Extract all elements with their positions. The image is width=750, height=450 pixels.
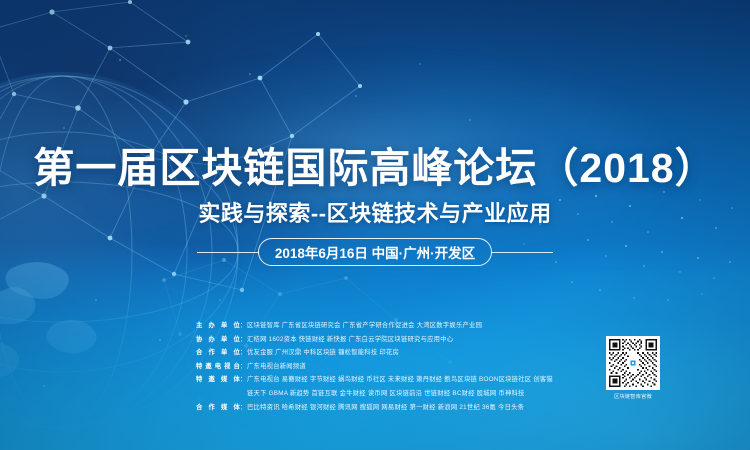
credit-label: 特邀媒体 xyxy=(196,373,240,387)
credit-colon: ： xyxy=(240,401,247,415)
conference-poster: 第一届区块链国际高峰论坛（2018） 实践与探索--区块链技术与产业应用 201… xyxy=(0,0,750,450)
rule-right xyxy=(491,252,553,253)
credit-row: 协办单位 ： 汇桔网 1602资本 快链财经 新快报 广东白云学院区块链研究与应… xyxy=(196,333,616,347)
qr-caption: 区块链智库官微 xyxy=(602,393,664,400)
credit-row: 特邀电视台 ： 广东电视台新闻频道 xyxy=(196,360,616,374)
credit-value: 区块链智库 广东省区块链研究会 广东省产学研合作促进会 大湾区数字娱乐产业园 xyxy=(247,319,616,333)
credit-value: 优友金服 广州汉鼎 中科区块链 镰松智能科技 印花房 xyxy=(247,346,616,360)
credit-row: 合作单位 ： 优友金服 广州汉鼎 中科区块链 镰松智能科技 印花房 xyxy=(196,346,616,360)
credit-row: 特邀媒体 ： 广东电视台 易簪财经 字节财经 蜗鸟财经 币社区 未来财经 箫丹财… xyxy=(196,373,616,387)
credit-value: 巴比特资讯 哈希财经 银河财经 腾讯网 搜狐网 网易财经 第一财经 新浪网 21… xyxy=(247,401,616,415)
credit-colon: ： xyxy=(240,360,247,374)
date-location-text: 2018年6月16日 中国·广州·开发区 xyxy=(258,238,492,266)
qr-code-image[interactable] xyxy=(606,336,660,390)
credit-label: 协办单位 xyxy=(196,333,240,347)
credit-value: 广东电视台新闻频道 xyxy=(247,360,616,374)
credit-colon: ： xyxy=(240,319,247,333)
qr-code-block: 区块链智库官微 xyxy=(602,336,664,400)
rule-left xyxy=(197,252,259,253)
credit-value: 汇桔网 1602资本 快链财经 新快报 广东白云学院区块链研究与应用中心 xyxy=(247,333,616,347)
credit-row: 主办单位 ： 区块链智库 广东省区块链研究会 广东省产学研合作促进会 大湾区数字… xyxy=(196,319,616,333)
credit-colon: ： xyxy=(240,373,247,387)
page-title: 第一届区块链国际高峰论坛（2018） xyxy=(0,134,750,194)
credit-colon: ： xyxy=(240,333,247,347)
page-subtitle: 实践与探索--区块链技术与产业应用 xyxy=(0,196,750,228)
credits-block: 主办单位 ： 区块链智库 广东省区块链研究会 广东省产学研合作促进会 大湾区数字… xyxy=(196,319,616,414)
credit-label: 特邀电视台 xyxy=(196,360,240,374)
credit-label: 主办单位 xyxy=(196,319,240,333)
credit-row: 合作媒体 ： 巴比特资讯 哈希财经 银河财经 腾讯网 搜狐网 网易财经 第一财经… xyxy=(196,401,616,415)
date-location-bar: 2018年6月16日 中国·广州·开发区 xyxy=(0,238,750,266)
credit-value: 广东电视台 易簪财经 字节财经 蜗鸟财经 币社区 未来财经 箫丹财经 鲍鸟区块链… xyxy=(247,373,616,387)
credit-continuation: 链天下 GBMA 新趋势 首链互联 金牛财经 读币网 区块链前沿 世链财经 BC… xyxy=(196,387,616,401)
credit-colon: ： xyxy=(240,346,247,360)
credit-label: 合作媒体 xyxy=(196,401,240,415)
credit-label: 合作单位 xyxy=(196,346,240,360)
